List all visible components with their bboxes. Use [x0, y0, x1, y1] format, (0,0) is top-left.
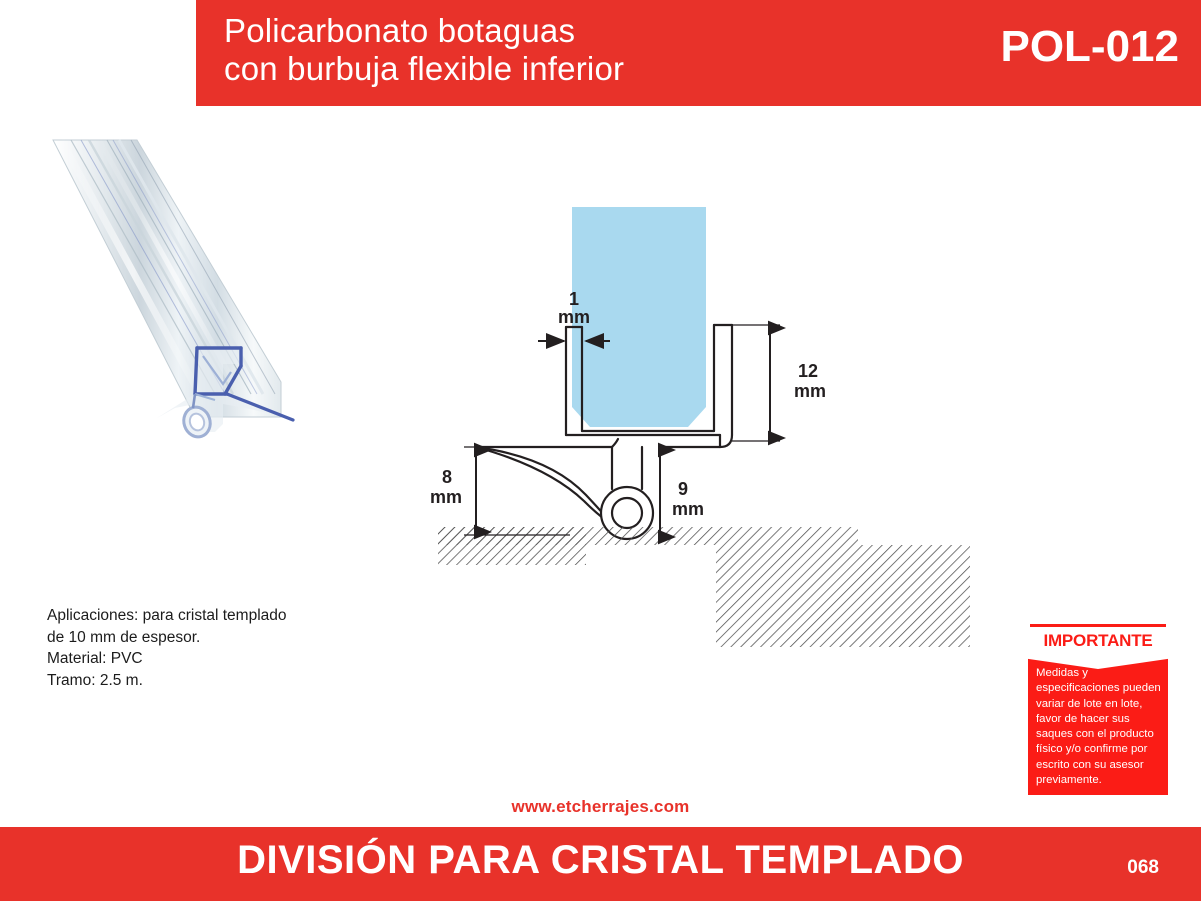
dimension-1mm-unit: mm — [558, 307, 590, 327]
product-photo — [45, 132, 345, 497]
hatch-block-right — [716, 545, 970, 647]
important-note-rule — [1030, 624, 1166, 627]
technical-drawing: 1 mm 12 mm 8 mm 9 mm — [420, 195, 1020, 665]
important-note-title: IMPORTANTE — [1028, 629, 1168, 653]
logo-plate — [0, 0, 196, 101]
page-title: Policarbonato botaguas con burbuja flexi… — [224, 12, 964, 88]
spec-line-1: Aplicaciones: para cristal templado — [47, 605, 387, 627]
dimension-1mm-value: 1 — [569, 289, 579, 309]
spec-line-4: Tramo: 2.5 m. — [47, 670, 387, 692]
spec-line-3: Material: PVC — [47, 648, 387, 670]
dimension-9mm-unit: mm — [672, 499, 704, 519]
important-note-text: Medidas y especificaciones pueden variar… — [1036, 666, 1162, 788]
catalog-page: ETC HERRAJES su mejor elección Policarbo… — [0, 0, 1201, 901]
hatched-substrate — [438, 527, 970, 647]
page-title-line-2: con burbuja flexible inferior — [224, 50, 964, 88]
important-note-body: Medidas y especificaciones pueden variar… — [1028, 656, 1168, 795]
page-title-line-1: Policarbonato botaguas — [224, 12, 964, 50]
dimension-8mm-unit: mm — [430, 487, 462, 507]
glass-panel — [572, 207, 706, 427]
dimension-9mm: 9 mm — [660, 450, 704, 537]
dimension-12mm-unit: mm — [794, 381, 826, 401]
dimension-12mm-value: 12 — [798, 361, 818, 381]
product-code: POL-012 — [1000, 22, 1179, 72]
footer-section-title: DIVISIÓN PARA CRISTAL TEMPLADO — [0, 838, 1201, 883]
extrusion-body — [53, 140, 281, 417]
footer-page-number: 068 — [1127, 857, 1159, 879]
spec-line-2: de 10 mm de espesor. — [47, 627, 387, 649]
hatch-block-top — [438, 527, 858, 545]
website-link[interactable]: www.etcherrajes.com — [0, 797, 1201, 817]
specifications-text: Aplicaciones: para cristal templado de 1… — [47, 605, 387, 691]
dimension-8mm: 8 mm — [430, 447, 570, 535]
dimension-9mm-value: 9 — [678, 479, 688, 499]
important-note-box: IMPORTANTE Medidas y especificaciones pu… — [1028, 620, 1168, 795]
header-rule-gap — [0, 101, 196, 106]
dimension-8mm-value: 8 — [442, 467, 452, 487]
bubble-stem — [601, 447, 653, 539]
dimension-12mm: 12 mm — [732, 325, 826, 441]
